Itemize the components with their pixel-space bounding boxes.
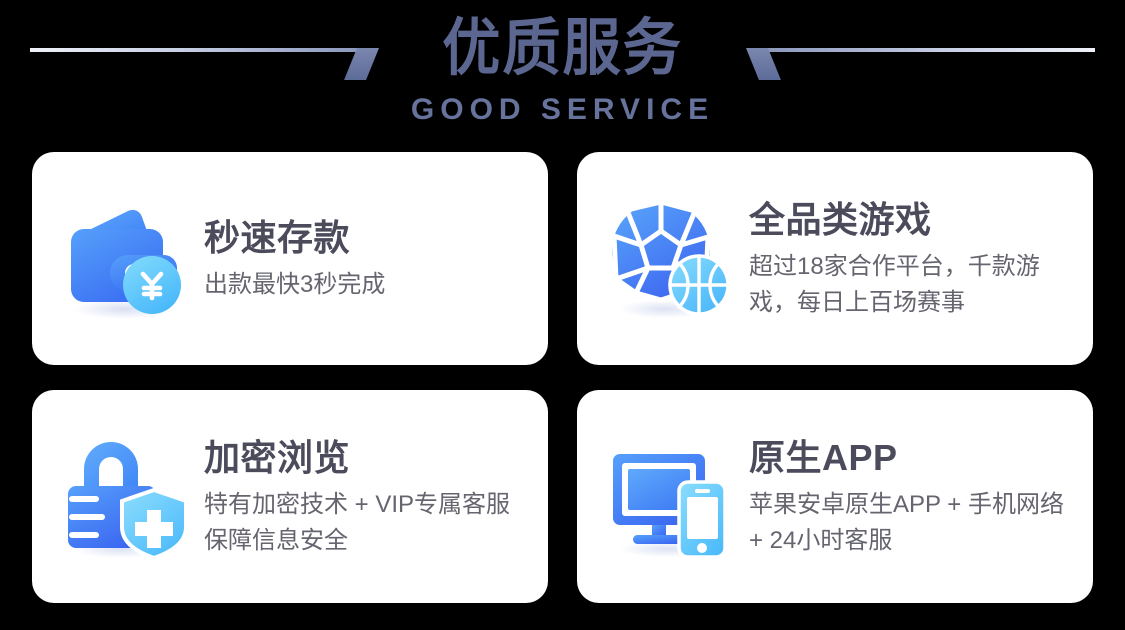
feature-card-native-app[interactable]: 原生APP 苹果安卓原生APP + 手机网络 + 24小时客服 <box>577 390 1093 603</box>
soccer-basketball-icon <box>603 193 735 325</box>
card-description: 出款最快3秒完成 <box>204 267 534 303</box>
feature-card-grid: 秒速存款 出款最快3秒完成 <box>32 152 1093 603</box>
card-description: 苹果安卓原生APP + 手机网络 + 24小时客服 <box>749 487 1079 559</box>
header-title-block: 优质服务 GOOD SERVICE <box>0 0 1125 128</box>
card-title: 秒速存款 <box>204 215 534 261</box>
lock-shield-icon <box>58 431 190 563</box>
feature-card-encryption[interactable]: 加密浏览 特有加密技术 + VIP专属客服保障信息安全 <box>32 390 548 603</box>
feature-card-games[interactable]: 全品类游戏 超过18家合作平台，千款游戏，每日上百场赛事 <box>577 152 1093 365</box>
page-header: 优质服务 GOOD SERVICE <box>0 0 1125 150</box>
card-title: 加密浏览 <box>204 435 534 481</box>
card-title: 原生APP <box>749 435 1079 481</box>
page-title: 优质服务 <box>34 8 1092 90</box>
feature-card-text: 加密浏览 特有加密技术 + VIP专属客服保障信息安全 <box>190 435 534 559</box>
card-description: 超过18家合作平台，千款游戏，每日上百场赛事 <box>749 249 1079 321</box>
wallet-yen-icon <box>58 193 190 325</box>
feature-card-deposit[interactable]: 秒速存款 出款最快3秒完成 <box>32 152 548 365</box>
feature-card-text: 全品类游戏 超过18家合作平台，千款游戏，每日上百场赛事 <box>735 197 1079 321</box>
page-subtitle: GOOD SERVICE <box>0 92 1125 128</box>
monitor-phone-icon <box>603 431 735 563</box>
feature-card-text: 原生APP 苹果安卓原生APP + 手机网络 + 24小时客服 <box>735 435 1079 559</box>
card-description: 特有加密技术 + VIP专属客服保障信息安全 <box>204 487 534 559</box>
feature-card-text: 秒速存款 出款最快3秒完成 <box>190 215 534 303</box>
card-title: 全品类游戏 <box>749 197 1079 243</box>
